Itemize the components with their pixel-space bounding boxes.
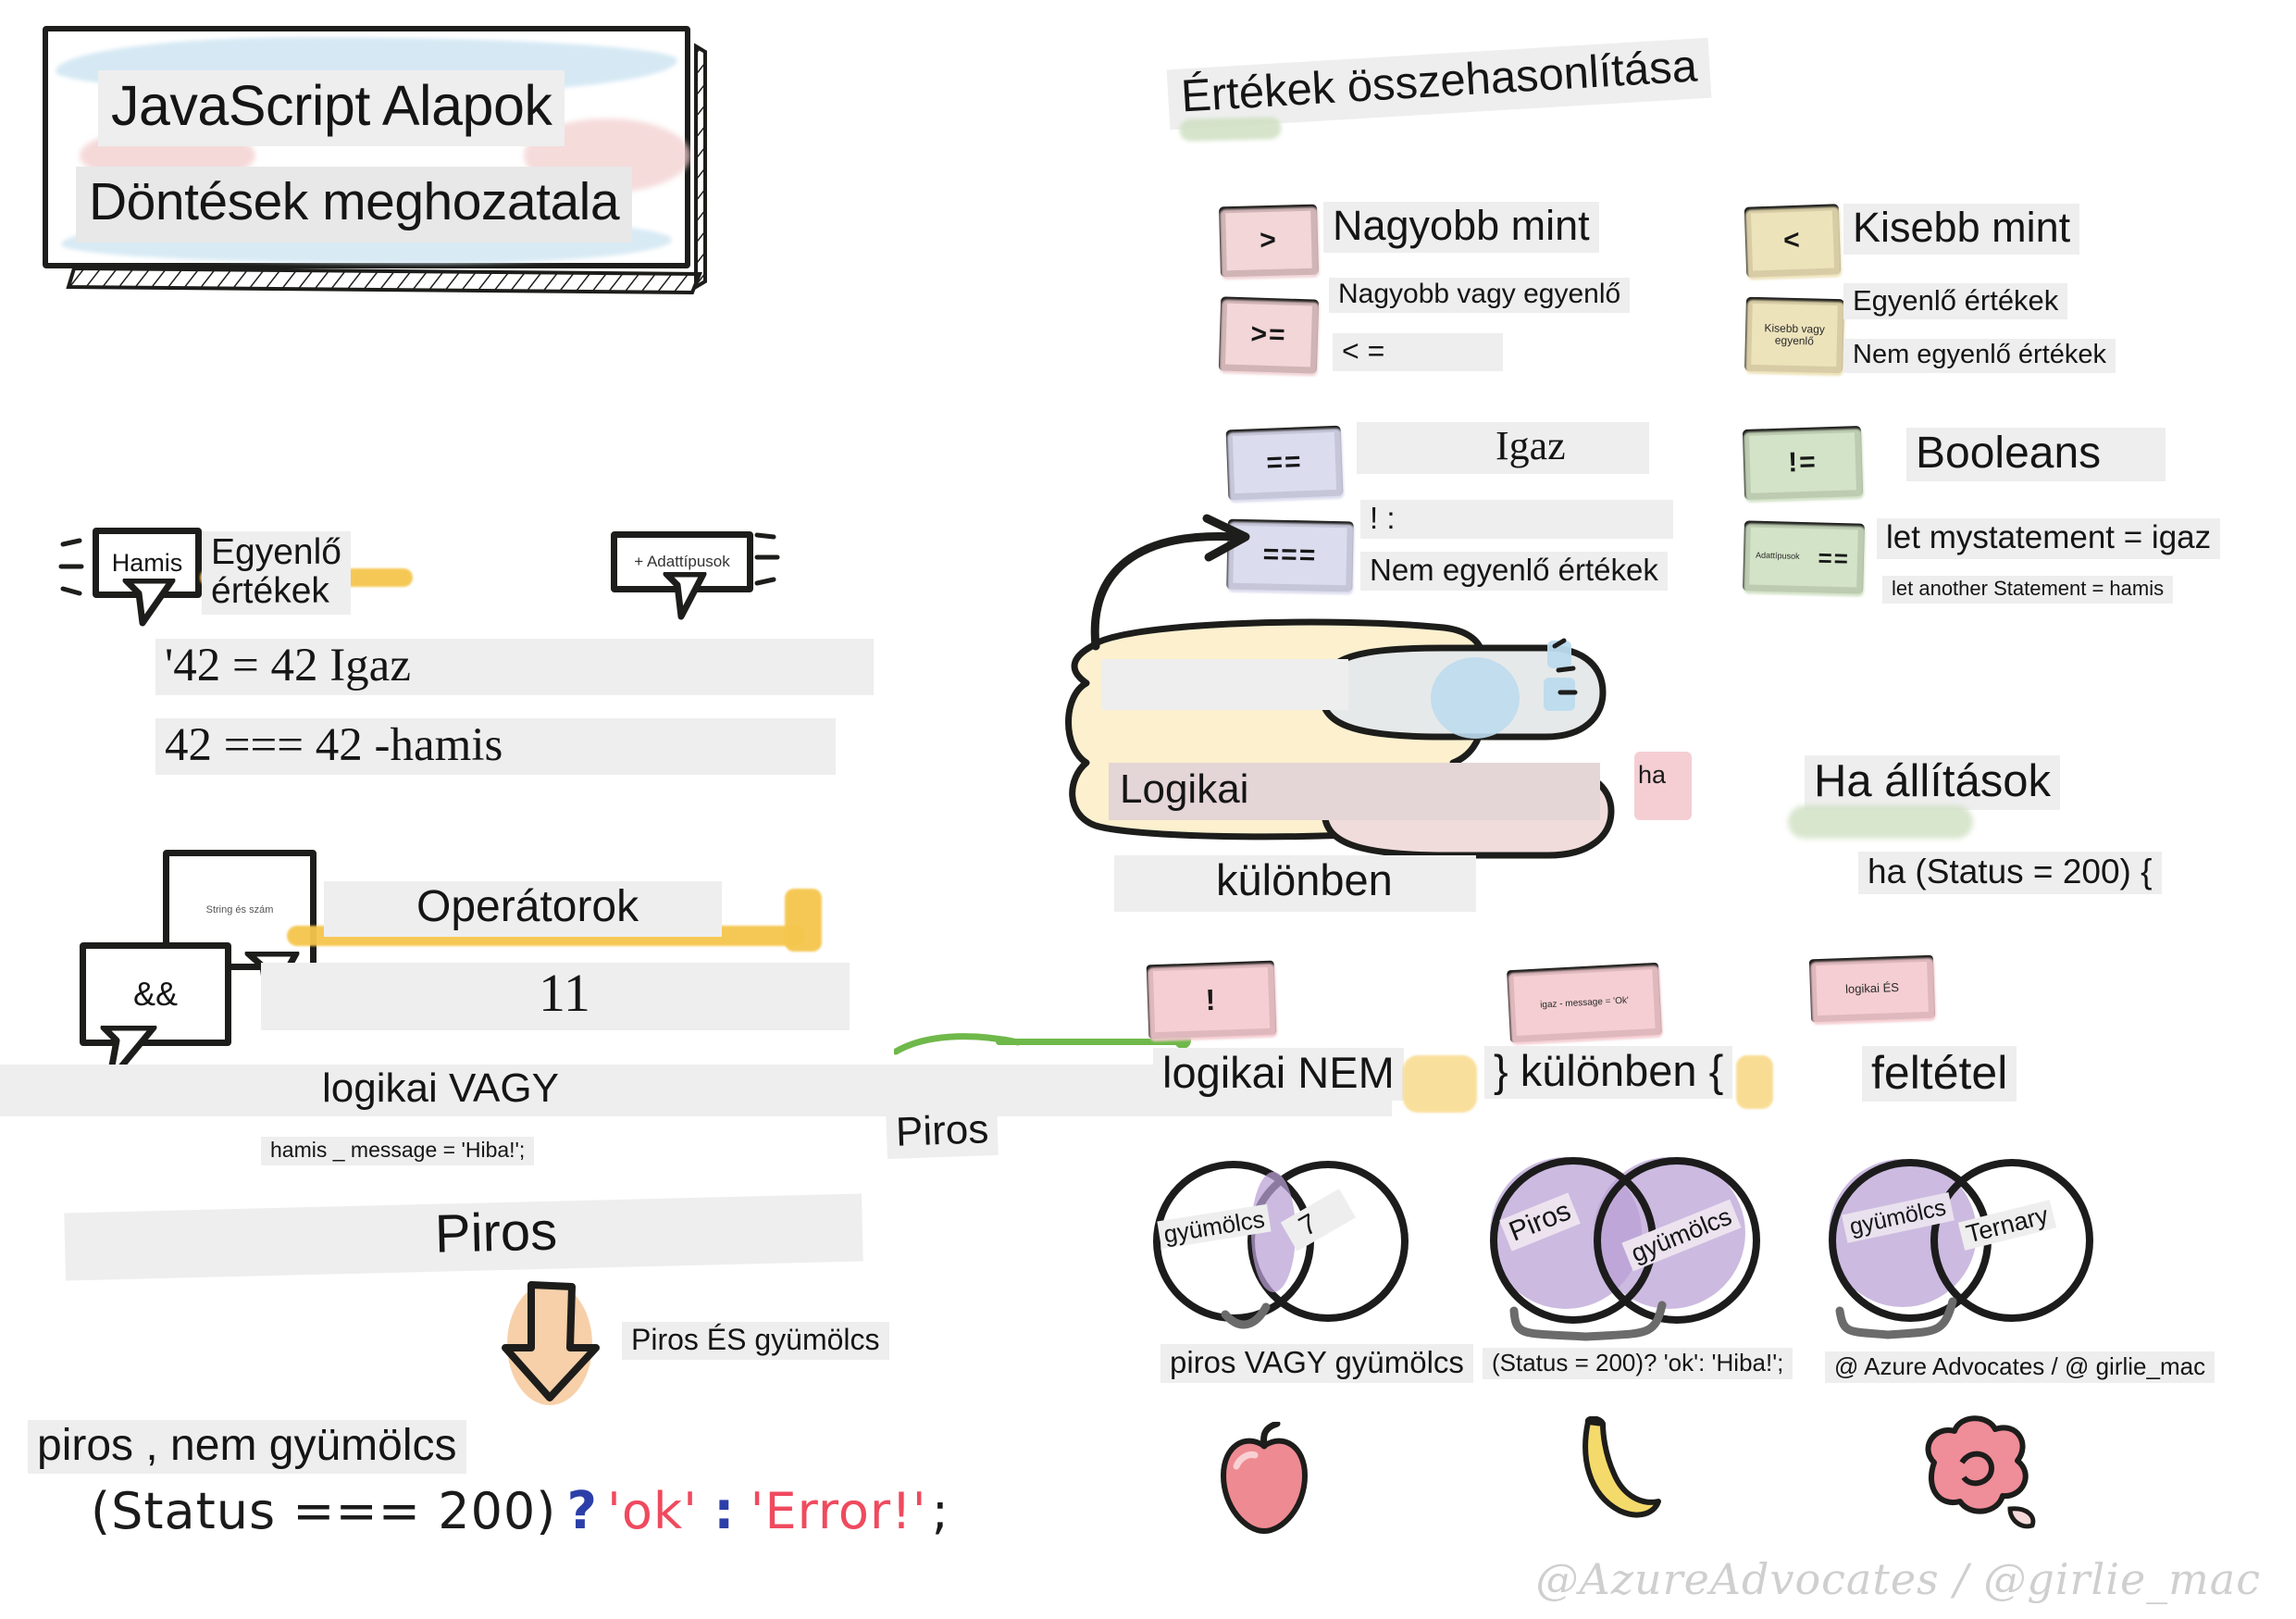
operators-heading: Operátorok <box>324 881 722 937</box>
label-text: Booleans <box>1906 428 2166 481</box>
ternary-true-value: 'ok' <box>607 1482 698 1540</box>
apple-icon <box>1209 1422 1320 1545</box>
label-text: logikai NEM <box>1153 1048 1404 1101</box>
credits-caption: @ Azure Advocates / @ girlie_mac <box>1825 1351 2215 1383</box>
label-text: @ Azure Advocates / @ girlie_mac <box>1825 1351 2215 1383</box>
yellow-marker-right <box>785 889 822 952</box>
operators-pipes: 11 <box>261 963 850 1030</box>
green-marker-curve <box>894 1027 1024 1057</box>
if-statements-heading: Ha állítások <box>1805 755 2060 810</box>
down-arrow-icon <box>489 1279 609 1405</box>
watermark: @AzureAdvocates / @girlie_mac <box>1536 1554 2262 1604</box>
label-text: Piros <box>64 1193 863 1280</box>
label-not-symbol: ! : <box>1360 500 1673 539</box>
label-text: Piros <box>886 1105 999 1159</box>
page-title: JavaScript Alapok <box>98 70 565 146</box>
yellow-marker <box>1403 1055 1477 1113</box>
page-title-text: JavaScript Alapok <box>98 70 565 146</box>
equality-line-1: '42 = 42 Igaz <box>155 639 874 695</box>
operator-glyph: ! <box>1153 967 1270 1032</box>
logikai-label: Logikai <box>1109 763 1600 820</box>
title-card: JavaScript Alapok Döntések meghozatala <box>43 26 690 268</box>
label-text: } különben { <box>1484 1046 1732 1099</box>
operator-glyph: == <box>1233 432 1336 493</box>
booleans-heading: Booleans <box>1906 428 2166 481</box>
green-wash-under-if <box>1788 805 1973 839</box>
ternary-expression: (Status === 200) ? 'ok' : 'Error!' ; <box>91 1481 949 1541</box>
operator-box-not-equal[interactable]: != <box>1743 426 1863 500</box>
label-text: hamis _ message = 'Hiba!'; <box>261 1137 534 1165</box>
operator-glyph: == <box>1749 527 1858 587</box>
yellow-marker <box>1736 1055 1773 1109</box>
sparkle-icon <box>748 529 785 589</box>
page-subtitle: Döntések meghozatala <box>76 167 632 243</box>
label-text: ha (Status = 200) { <box>1858 852 2162 894</box>
label-true: Igaz <box>1357 422 1649 474</box>
operator-box-caption: igaz - message = 'Ok' <box>1513 969 1655 1036</box>
operator-box-loose-equality[interactable]: == <box>1226 426 1344 501</box>
venn-2-operator-box[interactable]: igaz - message = 'Ok' <box>1507 963 1662 1042</box>
operator-box-equality-types[interactable]: Adattípusok == <box>1743 520 1865 593</box>
operator-box-less-equal[interactable]: Kisebb vagy egyenlő <box>1744 297 1844 374</box>
label-text: Logikai <box>1109 763 1600 820</box>
operator-box-caption: Kisebb vagy egyenlő <box>1751 304 1838 367</box>
kulonben-label: különben <box>1114 855 1476 912</box>
ternary-colon: : <box>702 1481 745 1541</box>
label-text: < = <box>1333 333 1503 371</box>
venn-2-brace-icon <box>1508 1296 1684 1351</box>
label-text: Kisebb mint <box>1843 204 2079 255</box>
curved-arrow-icon <box>1081 507 1266 655</box>
label-not-equal-values-2: Nem egyenlő értékek <box>1360 552 1668 591</box>
ternary-condition: (Status === 200) <box>91 1482 556 1540</box>
venn-1-pointer-icon <box>1218 1296 1338 1351</box>
operator-glyph: > <box>1225 211 1312 270</box>
venn-diagram-1: gyümölcs 7 <box>1144 1157 1533 1342</box>
label-text: 11 <box>261 963 850 1030</box>
label-text: let mystatement = igaz <box>1877 518 2220 559</box>
venn-3-operator-box[interactable]: logikai ÉS <box>1809 955 1935 1023</box>
label-text: piros , nem gyümölcs <box>28 1420 466 1474</box>
venn-3-brace-icon <box>1834 1294 1992 1350</box>
label-text: különben <box>1114 855 1476 912</box>
operator-box-greater-equal[interactable]: >= <box>1219 296 1319 373</box>
label-equal-values: Egyenlő értékek <box>1843 283 2067 319</box>
label-text: '42 = 42 Igaz <box>155 639 874 695</box>
bubble-tail-icon <box>661 572 716 622</box>
label-text: 42 === 42 -hamis <box>155 718 836 775</box>
comparison-section: Értékek összehasonlítása <box>1167 38 1712 131</box>
ha-bubble-label: ha <box>1638 761 1666 790</box>
venn-1-heading: logikai NEM <box>1153 1048 1404 1101</box>
if-statements-code: ha (Status = 200) { <box>1858 852 2162 894</box>
label-text: ! : <box>1360 500 1673 539</box>
booleans-line-1: let mystatement = igaz <box>1877 518 2220 559</box>
ternary-question-mark: ? <box>561 1481 602 1541</box>
equality-line-2: 42 === 42 -hamis <box>155 718 836 775</box>
venn-2-caption: (Status = 200)? 'ok': 'Hiba!'; <box>1483 1348 1793 1379</box>
label-text: piros VAGY gyümölcs <box>1160 1344 1473 1383</box>
label-text: Nem egyenlő értékek <box>1360 552 1668 591</box>
banana-icon <box>1547 1416 1668 1541</box>
label-text: Nagyobb mint <box>1323 202 1599 253</box>
operator-box-caption: logikai ÉS <box>1816 962 1929 1015</box>
bubble-tail-icon <box>120 579 185 627</box>
operator-glyph: != <box>1749 432 1856 493</box>
red-label-small: Piros <box>886 1105 999 1159</box>
label-greater-than: Nagyobb mint <box>1323 202 1599 253</box>
label-not-equal-values: Nem egyenlő értékek <box>1843 339 2116 373</box>
venn-1-caption: piros VAGY gyümölcs <box>1160 1344 1473 1383</box>
rose-icon <box>1906 1411 2045 1545</box>
not-fruit-label: piros , nem gyümölcs <box>28 1420 466 1474</box>
page-subtitle-text: Döntések meghozatala <box>76 167 632 243</box>
venn-2-heading: } különben { <box>1484 1046 1732 1099</box>
operator-glyph: < <box>1751 210 1834 270</box>
label-text: Nagyobb vagy egyenlő <box>1329 278 1630 313</box>
label-text: let another Statement = hamis <box>1882 576 2173 604</box>
operator-glyph: >= <box>1225 304 1312 367</box>
arrow-label: Piros ÉS gyümölcs <box>622 1322 889 1360</box>
label-text: Egyenlő értékek <box>202 531 351 615</box>
logic-blank-band <box>1101 659 1348 710</box>
label-text: Egyenlő értékek <box>1843 283 2067 319</box>
equality-heading: Egyenlő értékek <box>202 531 351 615</box>
booleans-line-2: let another Statement = hamis <box>1882 576 2173 604</box>
operator-box-greater-than[interactable]: > <box>1219 205 1319 278</box>
venn-3-heading: feltétel <box>1862 1046 2017 1102</box>
operators-code-line: hamis _ message = 'Hiba!'; <box>261 1137 534 1165</box>
label-text: (Status = 200)? 'ok': 'Hiba!'; <box>1483 1348 1793 1379</box>
comparison-section-title: Értékek összehasonlítása <box>1167 38 1712 131</box>
label-less-equal-symbol: < = <box>1333 333 1503 371</box>
sparkle-icon <box>1536 635 1610 728</box>
red-label-big: Piros <box>64 1193 863 1280</box>
green-wash-under-heading <box>1179 117 1282 142</box>
ternary-false-value: 'Error!' <box>751 1482 927 1540</box>
label-less-than: Kisebb mint <box>1843 204 2079 255</box>
operator-box-less-than[interactable]: < <box>1744 204 1842 278</box>
blue-wash-blob <box>1423 648 1534 750</box>
label-greater-equal: Nagyobb vagy egyenlő <box>1329 278 1630 313</box>
ternary-semicolon: ; <box>932 1482 949 1540</box>
label-text: Piros ÉS gyümölcs <box>622 1322 889 1360</box>
label-text: Ha állítások <box>1805 755 2060 810</box>
label-text: Igaz <box>1357 422 1649 474</box>
venn-1-operator-box[interactable]: ! <box>1147 961 1277 1040</box>
label-text: Operátorok <box>324 881 722 937</box>
label-text: feltétel <box>1862 1046 2017 1102</box>
label-text: Nem egyenlő értékek <box>1843 339 2116 373</box>
